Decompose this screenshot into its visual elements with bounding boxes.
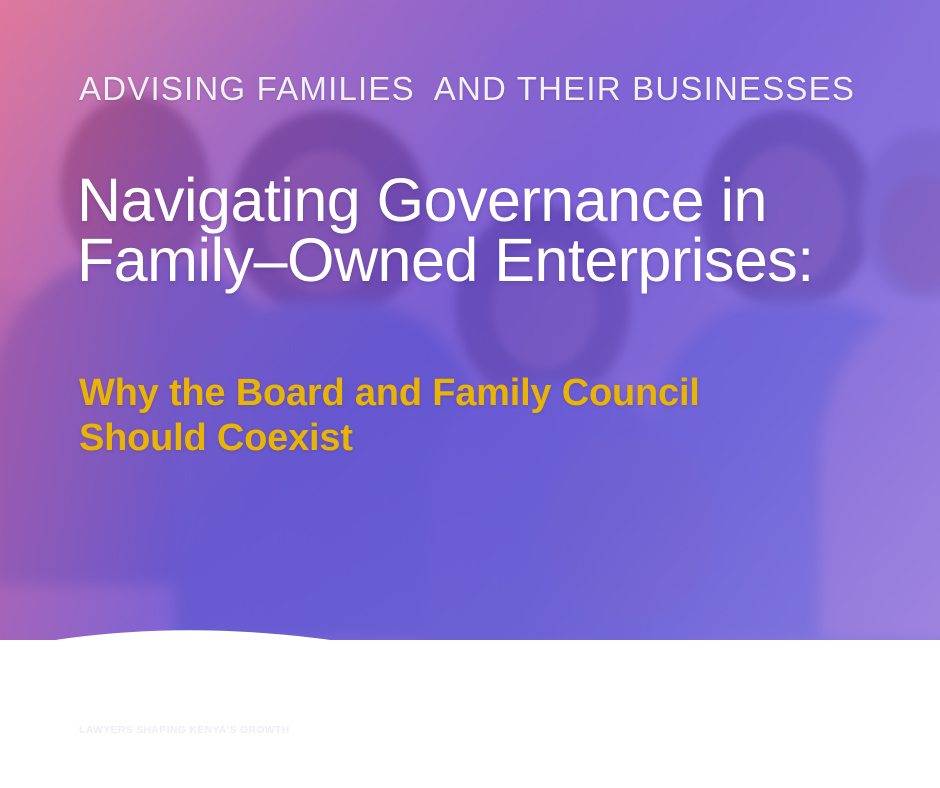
prepared-by-label: prepared by [79, 656, 679, 674]
firm-name: FMC ADVOCATES LLP [79, 685, 679, 712]
page-subtitle: Why the Board and Family Council Should … [79, 371, 779, 461]
firm-tagline: LAWYERS SHAPING KENYA’S GROWTH [79, 724, 679, 736]
cover-text-block: ADVISING FAMILIES AND THEIR BUSINESSES N… [0, 0, 940, 640]
poster-cover: ADVISING FAMILIES AND THEIR BUSINESSES N… [0, 0, 940, 788]
eyebrow-text: ADVISING FAMILIES AND THEIR BUSINESSES [79, 70, 855, 108]
footer-credits: prepared by FMC ADVOCATES LLP LAWYERS SH… [79, 656, 679, 736]
page-title: Navigating Governance in Family–Owned En… [77, 170, 907, 290]
